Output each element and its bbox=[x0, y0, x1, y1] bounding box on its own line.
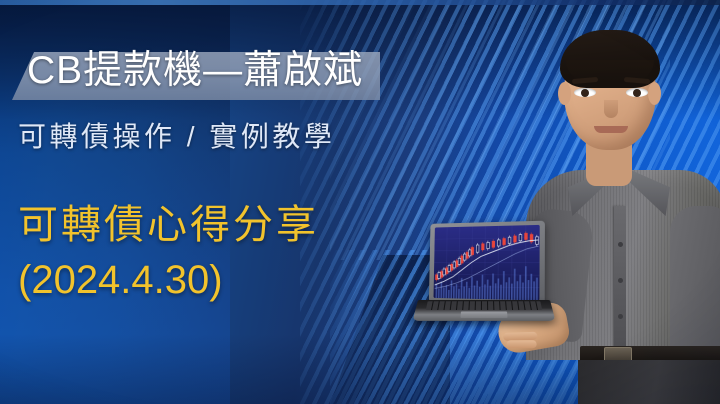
channel-subtitle: 可轉債操作 / 實例教學 bbox=[18, 119, 335, 155]
nose bbox=[604, 100, 618, 118]
video-headline: 可轉債心得分享 (2024.4.30) bbox=[18, 198, 319, 308]
shirt-button bbox=[618, 314, 623, 319]
laptop-base bbox=[413, 300, 556, 321]
laptop-trackpad bbox=[460, 311, 507, 317]
text-block: CB提款機—蕭啟斌 可轉債操作 / 實例教學 可轉債心得分享 (2024.4.3… bbox=[0, 0, 430, 404]
eye-left bbox=[574, 88, 596, 97]
ear-left bbox=[558, 82, 571, 105]
right-arm bbox=[670, 206, 720, 356]
laptop-screen bbox=[434, 225, 540, 301]
mouth bbox=[594, 126, 628, 133]
eye-right bbox=[626, 88, 648, 97]
presenter-portrait bbox=[520, 10, 720, 404]
youtube-thumbnail: CB提款機—蕭啟斌 可轉債操作 / 實例教學 可轉債心得分享 (2024.4.3… bbox=[0, 0, 720, 404]
channel-title: CB提款機—蕭啟斌 bbox=[27, 48, 363, 94]
laptop-keyboard bbox=[426, 301, 542, 310]
trousers bbox=[578, 360, 720, 404]
headline-line-1: 可轉債心得分享 bbox=[18, 203, 319, 247]
headline-line-2: (2024.4.30) bbox=[18, 253, 319, 308]
shirt-button bbox=[618, 242, 623, 247]
shirt-button bbox=[618, 278, 623, 283]
laptop-lid bbox=[429, 221, 545, 306]
laptop-with-stock-chart bbox=[418, 222, 550, 344]
stock-chart-svg bbox=[434, 225, 540, 301]
ear-right bbox=[648, 82, 661, 105]
